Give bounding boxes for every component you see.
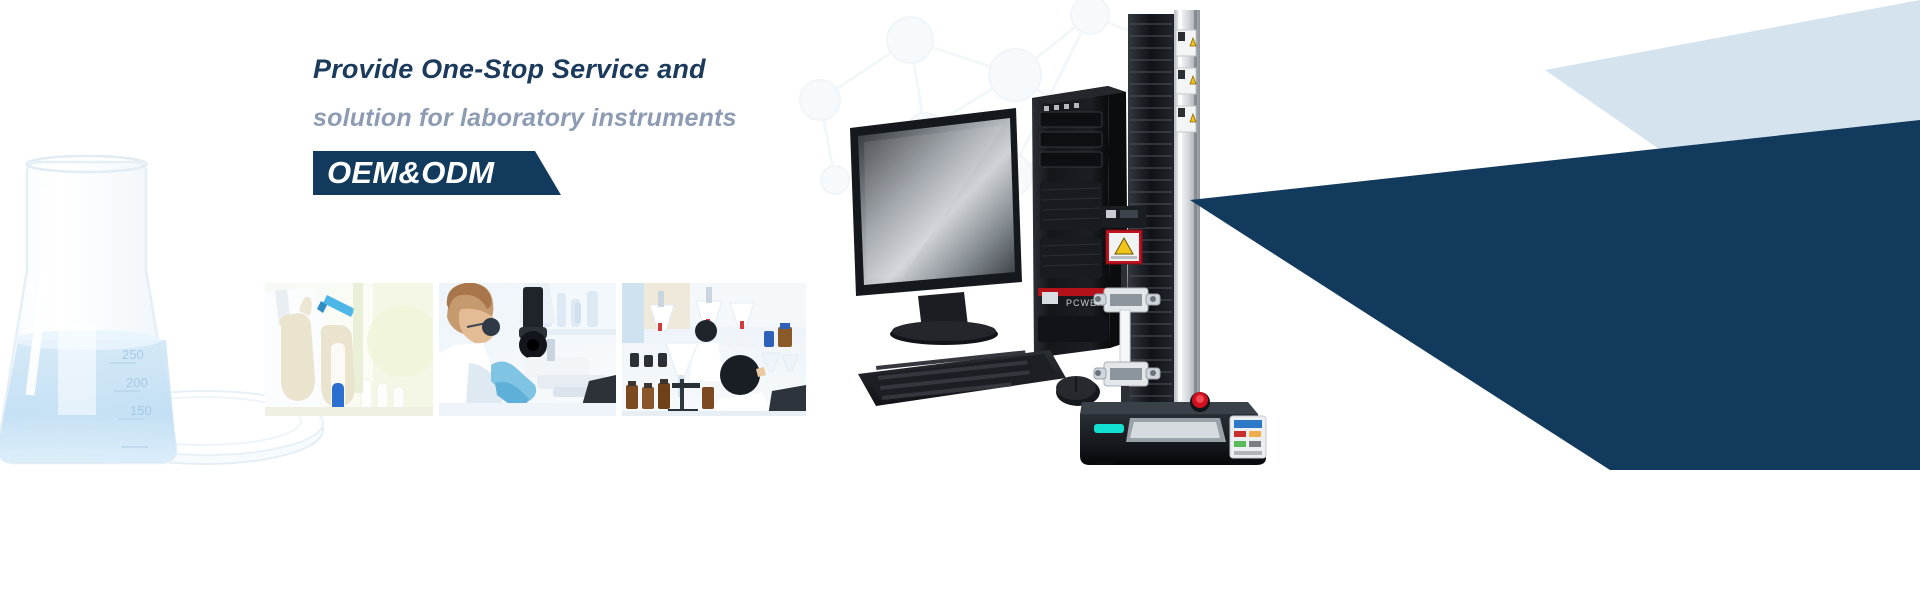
photo-lab-bench [622, 283, 806, 416]
keyboard-shape [858, 350, 1066, 406]
erlenmeyer-flask-shape: 250 200 150 [0, 156, 176, 463]
svg-text:200: 200 [126, 375, 148, 390]
photo-microscope [439, 283, 616, 416]
desktop-monitor-shape [850, 108, 1022, 345]
badge-label: OEM&ODM [327, 155, 494, 191]
photo-pipetting [265, 283, 433, 416]
geometric-accents [1190, 0, 1920, 500]
oem-odm-badge: OEM&ODM [313, 151, 561, 195]
dark-navy-triangle [1190, 120, 1920, 470]
svg-text:250: 250 [122, 347, 144, 362]
promo-banner: 250 200 150 Provide One-Stop Service and… [0, 0, 1920, 597]
photo-strip [265, 283, 806, 416]
svg-text:150: 150 [130, 403, 152, 418]
